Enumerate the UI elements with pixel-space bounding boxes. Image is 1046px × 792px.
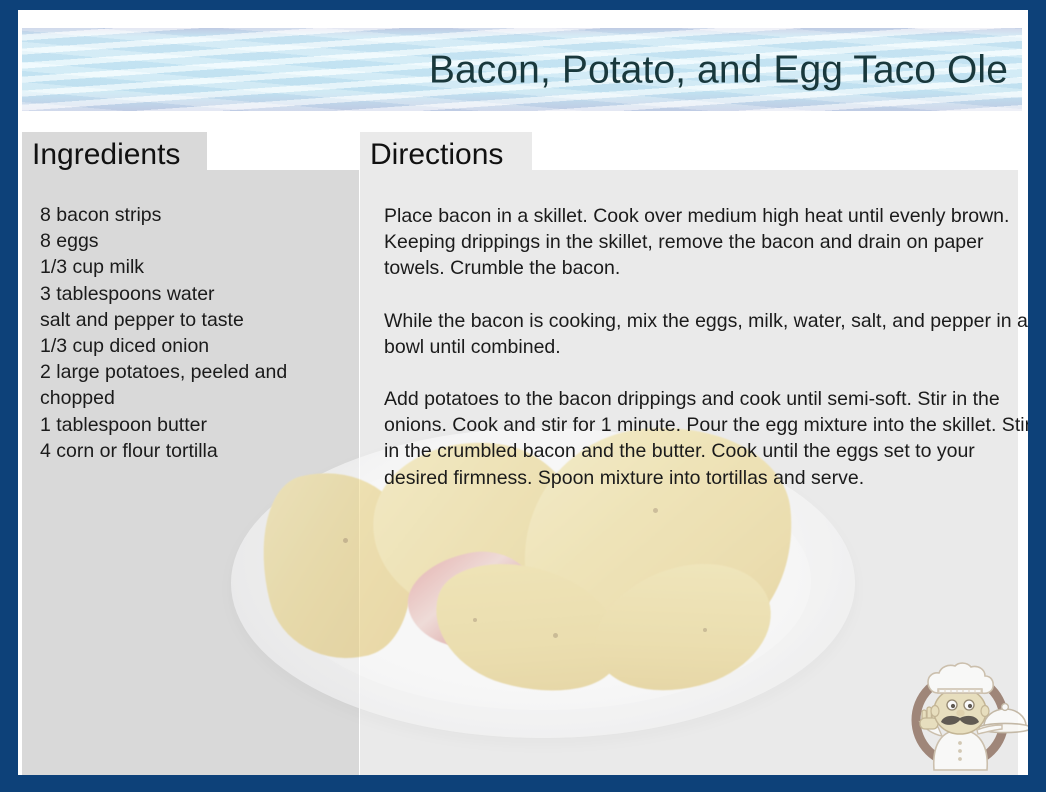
directions-tab-label: Directions (370, 138, 503, 172)
ingredients-tab: Ingredients (22, 132, 207, 178)
chef-logo-icon (898, 648, 1028, 775)
ingredient-item: 2 large potatoes, peeled and chopped (40, 359, 340, 411)
direction-paragraph: Add potatoes to the bacon drippings and … (384, 386, 1028, 491)
ingredient-item: 4 corn or flour tortilla (40, 438, 340, 464)
direction-paragraph: While the bacon is cooking, mix the eggs… (384, 308, 1028, 360)
ingredients-tab-label: Ingredients (32, 138, 180, 172)
directions-text: Place bacon in a skillet. Cook over medi… (384, 203, 1028, 491)
recipe-card: Bacon, Potato, and Egg Taco Ole Ingredie… (0, 0, 1046, 792)
direction-paragraph: Place bacon in a skillet. Cook over medi… (384, 203, 1028, 282)
ingredients-list: 8 bacon strips 8 eggs 1/3 cup milk 3 tab… (40, 202, 340, 464)
ingredient-item: 1/3 cup diced onion (40, 333, 340, 359)
ingredient-item: 8 bacon strips (40, 202, 340, 228)
chef-logo (898, 648, 1028, 775)
page-title: Bacon, Potato, and Egg Taco Ole (429, 50, 1008, 89)
recipe-page: Bacon, Potato, and Egg Taco Ole Ingredie… (18, 10, 1028, 775)
ingredient-item: 1 tablespoon butter (40, 412, 340, 438)
ingredient-item: salt and pepper to taste (40, 307, 340, 333)
directions-tab: Directions (360, 132, 532, 178)
title-banner: Bacon, Potato, and Egg Taco Ole (22, 28, 1022, 111)
ingredient-item: 8 eggs (40, 228, 340, 254)
ingredient-item: 3 tablespoons water (40, 281, 340, 307)
ingredient-item: 1/3 cup milk (40, 254, 340, 280)
